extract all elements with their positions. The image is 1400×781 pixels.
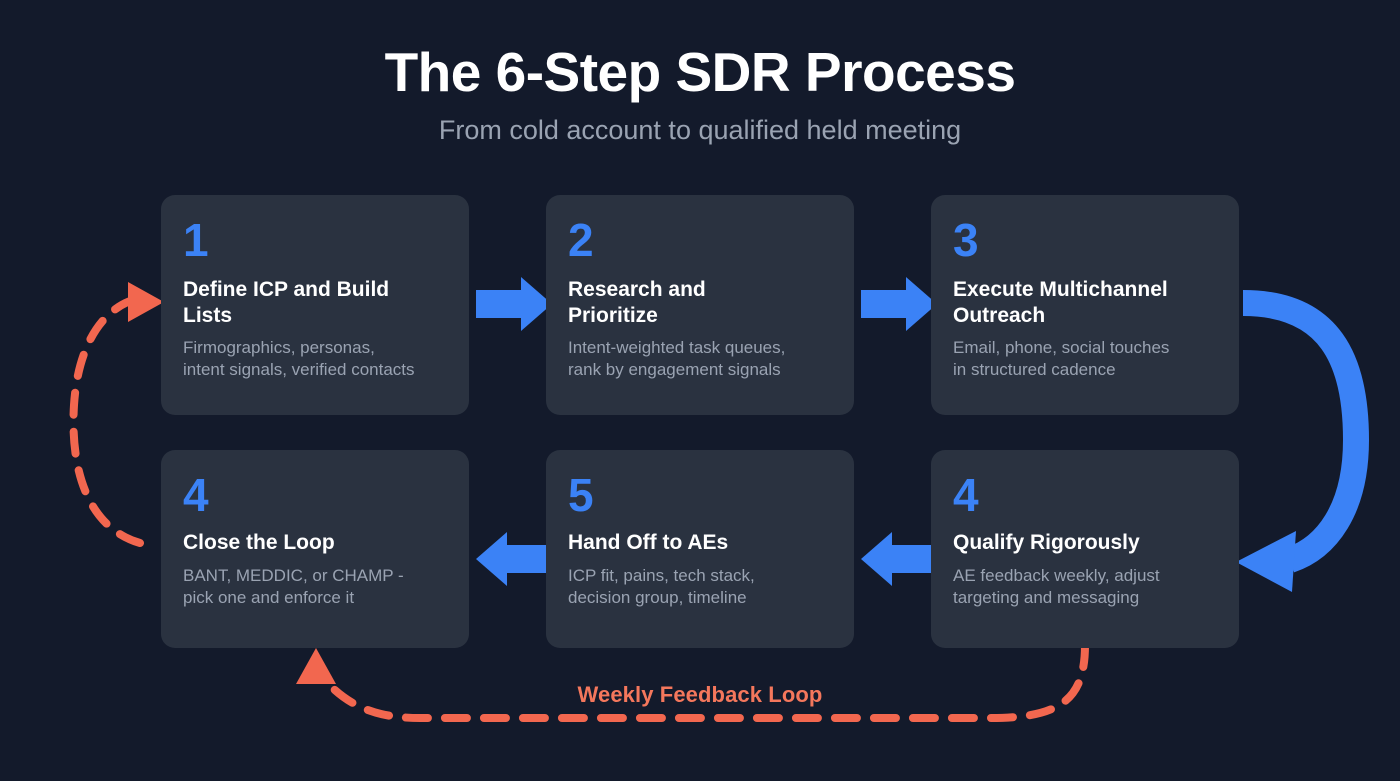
feedback-loop-path-left	[73, 282, 164, 543]
step-description: ICP fit, pains, tech stack, decision gro…	[568, 565, 832, 609]
arrow-step5-to-closetheloop	[476, 532, 552, 586]
step-title: Execute Multichannel Outreach	[953, 277, 1217, 328]
step-card-2[interactable]: 2 Research and Prioritize Intent-weighte…	[546, 195, 854, 415]
header: The 6-Step SDR Process From cold account…	[0, 0, 1400, 145]
step-number: 4	[183, 472, 447, 518]
arrow-step1-to-step2	[476, 277, 552, 331]
step-description: AE feedback weekly, adjust targeting and…	[953, 565, 1217, 609]
step-description: Firmographics, personas, intent signals,…	[183, 337, 447, 381]
arrow-step2-to-step3	[861, 277, 937, 331]
step-title: Close the Loop	[183, 530, 447, 556]
step-card-close-the-loop[interactable]: 4 Close the Loop BANT, MEDDIC, or CHAMP …	[161, 450, 469, 648]
step-number: 4	[953, 472, 1217, 518]
step-description: Intent-weighted task queues, rank by eng…	[568, 337, 832, 381]
page-subtitle: From cold account to qualified held meet…	[0, 116, 1400, 146]
step-number: 1	[183, 217, 447, 263]
feedback-loop-label: Weekly Feedback Loop	[0, 682, 1400, 708]
step-description: Email, phone, social touches in structur…	[953, 337, 1217, 381]
step-title: Hand Off to AEs	[568, 530, 832, 556]
step-title: Define ICP and Build Lists	[183, 277, 447, 328]
step-card-qualify-rigorously[interactable]: 4 Qualify Rigorously AE feedback weekly,…	[931, 450, 1239, 648]
step-description: BANT, MEDDIC, or CHAMP - pick one and en…	[183, 565, 447, 609]
step-title: Research and Prioritize	[568, 277, 832, 328]
step-card-1[interactable]: 1 Define ICP and Build Lists Firmographi…	[161, 195, 469, 415]
page-title: The 6-Step SDR Process	[0, 44, 1400, 102]
step-number: 2	[568, 217, 832, 263]
arrow-qualify-to-step5	[861, 532, 937, 586]
step-title: Qualify Rigorously	[953, 530, 1217, 556]
step-card-hand-off-to-aes[interactable]: 5 Hand Off to AEs ICP fit, pains, tech s…	[546, 450, 854, 648]
step-card-3[interactable]: 3 Execute Multichannel Outreach Email, p…	[931, 195, 1239, 415]
infographic-canvas: The 6-Step SDR Process From cold account…	[0, 0, 1400, 781]
arrow-step3-to-qualify-curve	[1236, 303, 1356, 592]
step-number: 3	[953, 217, 1217, 263]
step-number: 5	[568, 472, 832, 518]
